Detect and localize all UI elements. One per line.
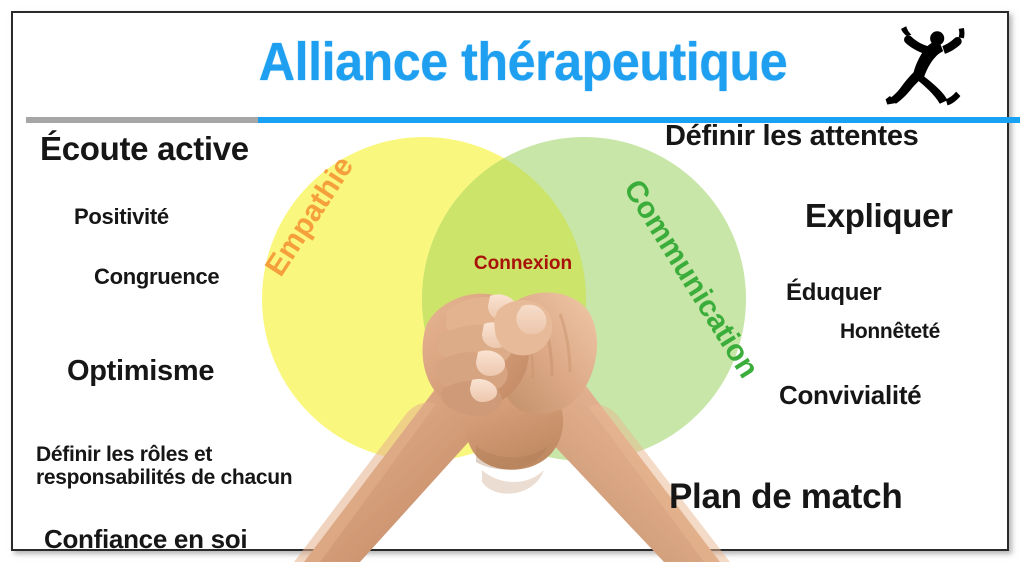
page-title: Alliance thérapeutique: [188, 31, 858, 93]
right-item-honnetete: Honnêteté: [840, 320, 940, 344]
header: Alliance thérapeutique: [13, 13, 1007, 105]
left-item-optimisme: Optimisme: [67, 355, 214, 388]
right-item-definir-les-attentes: Définir les attentes: [665, 120, 918, 153]
left-item-ecoute-active: Écoute active: [40, 130, 249, 168]
running-figure-icon: [883, 22, 969, 108]
left-item-congruence: Congruence: [94, 264, 219, 290]
left-item-confiance-en-soi: Confiance en soi: [44, 524, 247, 555]
left-item-positivite: Positivité: [74, 204, 169, 230]
right-item-plan-de-match: Plan de match: [669, 477, 902, 517]
right-item-eduquer: Éduquer: [786, 279, 881, 307]
right-item-convivialite: Convivialité: [779, 380, 921, 411]
slide-canvas: Alliance thérapeutique: [0, 0, 1024, 575]
left-item-definir-les-roles: Définir les rôles et responsabilités de …: [36, 443, 366, 489]
right-item-expliquer: Expliquer: [805, 197, 953, 235]
clasped-hands-photo: [286, 270, 738, 562]
